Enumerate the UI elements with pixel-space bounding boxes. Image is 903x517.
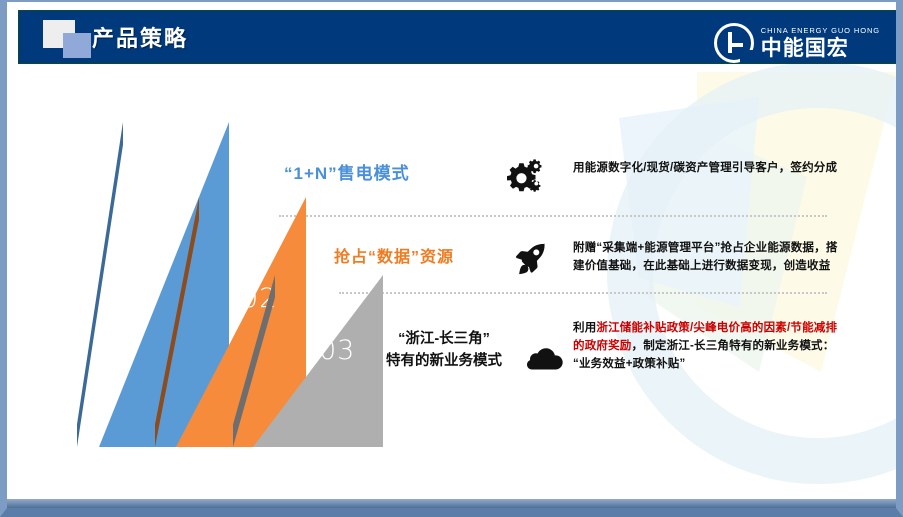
row-2-headline: 抢占“数据”资源 [334, 247, 454, 269]
row-3-desc-part3: “业务效益+政策补贴” [573, 358, 685, 370]
slide-canvas: 产品策略 CHINA ENERGY GUO HONG 中能国宏 01 02 03 [0, 0, 903, 517]
row-3-headline: “浙江-长三角” 特有的新业务模式 [369, 329, 519, 373]
company-logo: CHINA ENERGY GUO HONG 中能国宏 [714, 22, 880, 64]
pyramid-level-03-number: 03 [319, 335, 355, 366]
pyramid-level-03-side [233, 275, 275, 447]
pyramid-level-02-side [155, 197, 199, 447]
row-1-description: 用能源数字化/现货/碳资产管理引导客户，签约分成 [573, 160, 839, 178]
row-3-headline-line1: “浙江-长三角” [398, 331, 490, 347]
cloud-icon [527, 346, 563, 370]
logo-english-name: CHINA ENERGY GUO HONG [761, 27, 880, 35]
row-separator-2 [339, 292, 827, 294]
gears-icon [503, 158, 543, 194]
page-title: 产品策略 [92, 21, 188, 53]
row-1-headline: “1+N”售电模式 [284, 163, 410, 186]
row-3-desc-part1: 利用 [573, 322, 596, 334]
row-3-desc-part2: ，制定浙江-长三角特有的新业务模式： [632, 340, 835, 352]
logo-chinese-name: 中能国宏 [761, 38, 880, 59]
logo-emblem-icon [714, 23, 754, 63]
rocket-icon [513, 243, 547, 275]
row-3-headline-line2: 特有的新业务模式 [386, 353, 502, 369]
square-decoration-blue-icon [63, 33, 91, 58]
slide-header: 产品策略 CHINA ENERGY GUO HONG 中能国宏 [18, 10, 899, 64]
pyramid-level-03: 03 [233, 275, 383, 447]
row-2-description: 附赠“采集端+能源管理平台”抢占企业能源数据，搭建价值基础，在此基础上进行数据变… [573, 240, 839, 276]
pyramid-level-01-side [77, 122, 123, 447]
row-3-description: 利用浙江储能补贴政策/尖峰电价高的因素/节能减排的政府奖励，制定浙江-长三角特有… [573, 320, 841, 373]
